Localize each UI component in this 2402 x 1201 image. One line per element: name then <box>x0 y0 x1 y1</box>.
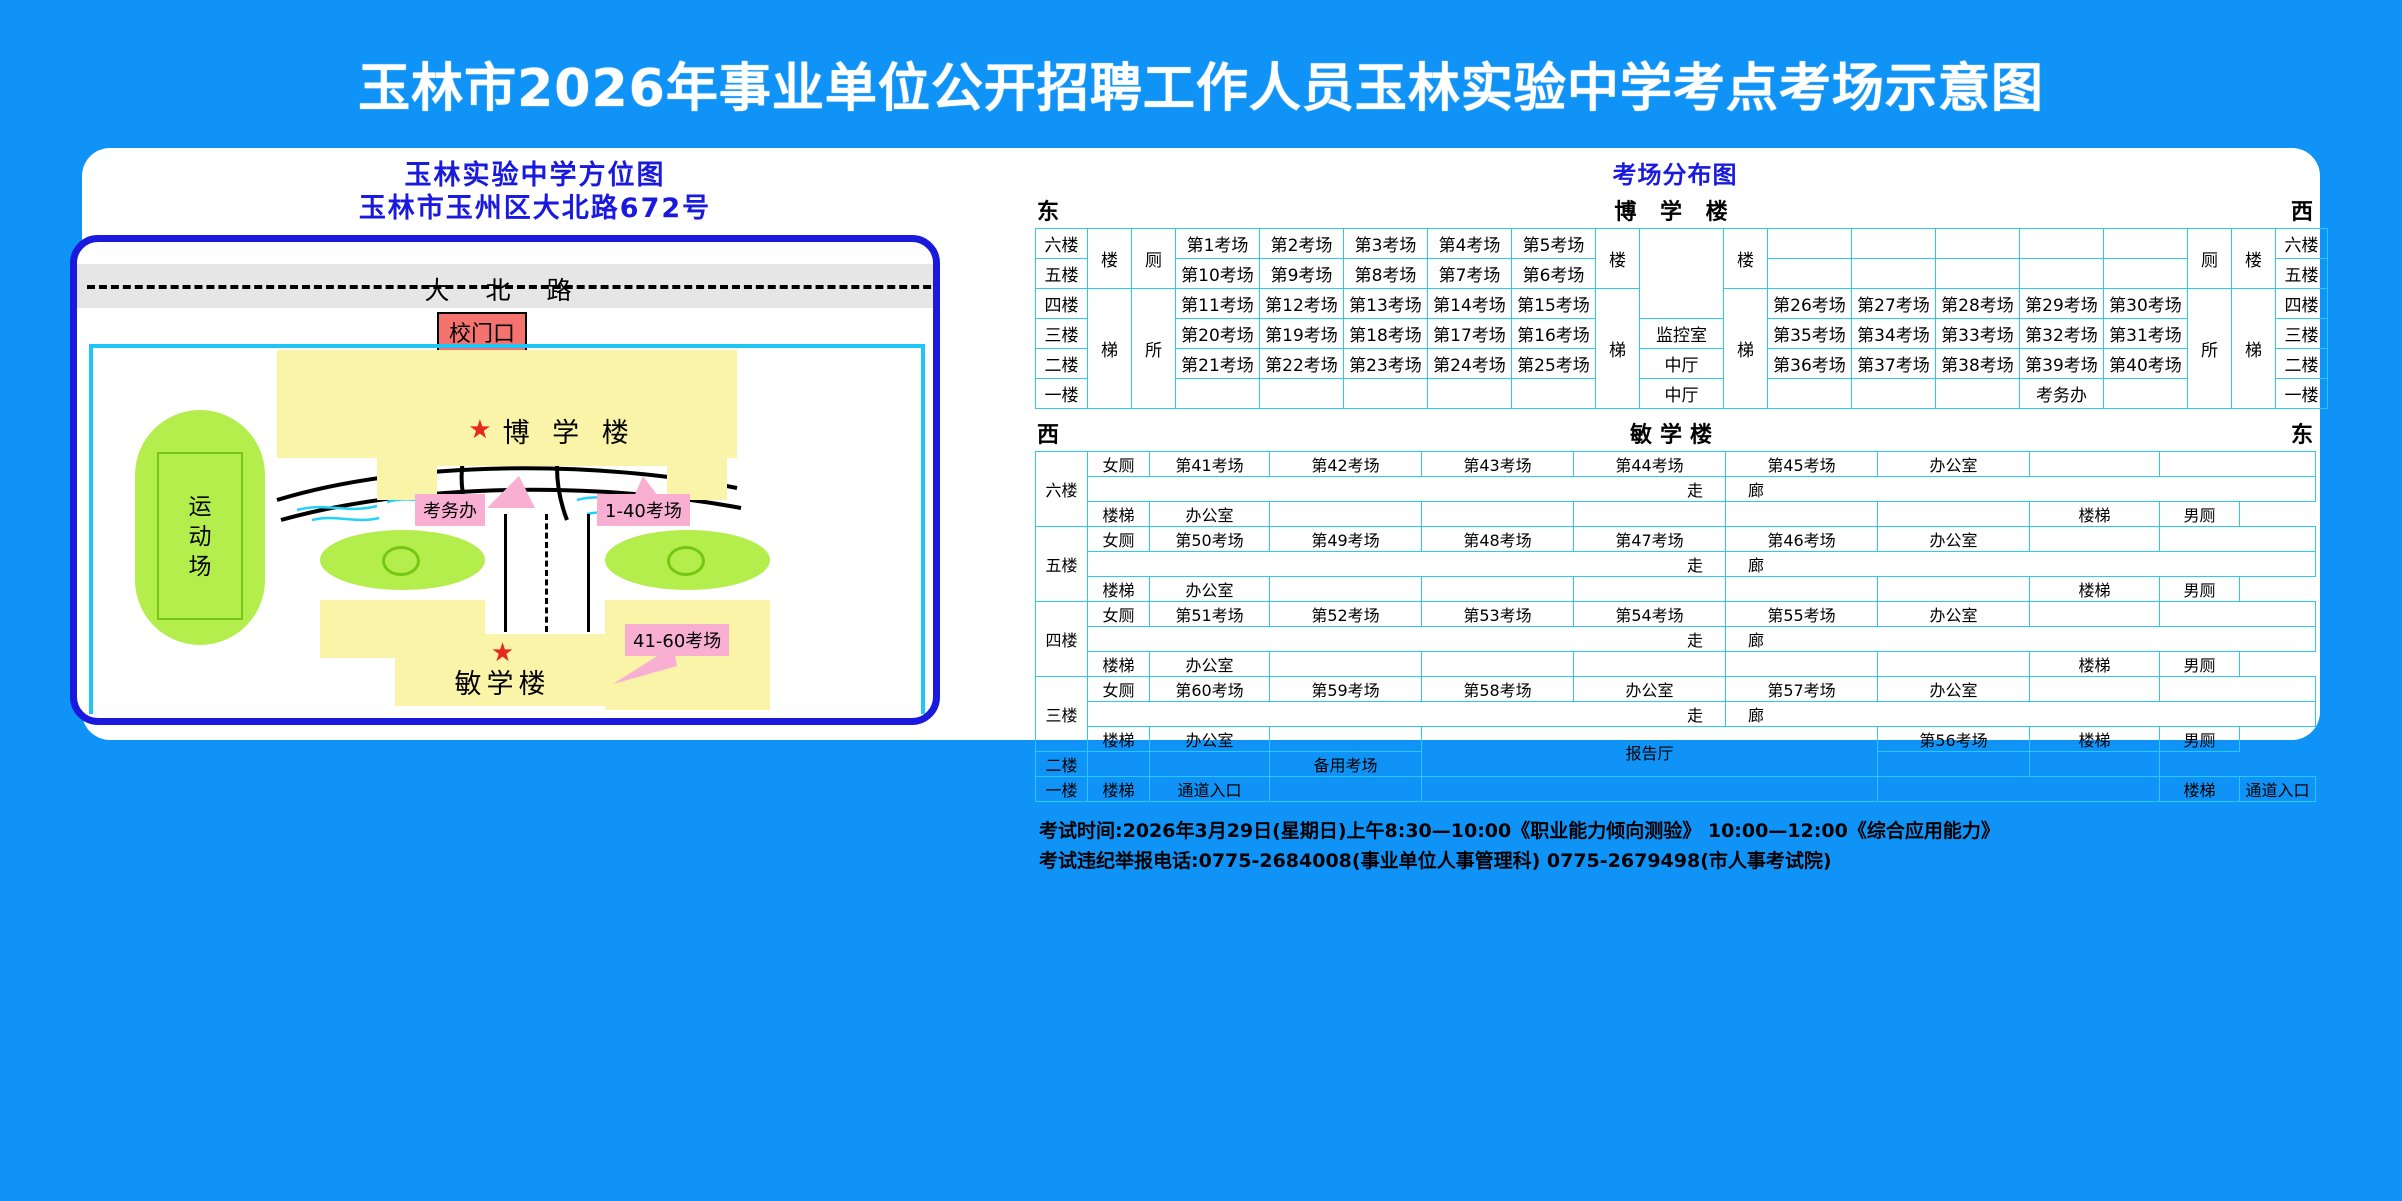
minxue-f2-c6 <box>2030 752 2160 777</box>
minxue-f2-c1 <box>1150 752 1270 777</box>
playground-track: 运 动 场 <box>135 410 265 645</box>
boxue-floor-left-3: 三楼 <box>1036 319 1088 349</box>
minxue-f5-stair-right: 楼梯 <box>2030 577 2160 602</box>
boxue-room-r-1-3 <box>2020 259 2104 289</box>
exam-room-distribution-block: 考场分布图 东 博 学 楼 西 六楼 楼 厕 第1考场 第2考场 第3考场 第4 <box>1035 155 2315 876</box>
distribution-heading: 考场分布图 <box>1035 155 2315 190</box>
playground-label: 运 动 场 <box>135 492 265 582</box>
boxue-text: 博 学 楼 <box>503 411 636 450</box>
minxue-f6-stair-left: 楼梯 <box>1088 502 1150 527</box>
minxue-f4-room-0: 第51考场 <box>1150 602 1270 627</box>
boxue-mid-blank-top <box>1640 229 1724 319</box>
boxue-room-l-0-1: 第2考场 <box>1260 229 1344 259</box>
minxue-f6-office-2: 办公室 <box>1150 502 1270 527</box>
boxue-room-r-0-0 <box>1768 229 1852 259</box>
minxue-f6-room-4: 第45考场 <box>1726 452 1878 477</box>
boxue-room-r-5-3: 考务办 <box>2020 379 2104 409</box>
minxue-f6-mens-toilet: 男厕 <box>2160 502 2240 527</box>
table-row: 三楼 第20考场 第19考场 第18考场 第17考场 第16考场 监控室 第35… <box>1036 319 2328 349</box>
boxue-room-r-5-2 <box>1936 379 2020 409</box>
boxue-floor-left-5: 一楼 <box>1036 379 1088 409</box>
boxue-room-r-0-4 <box>2104 229 2188 259</box>
minxue-f6-blank-2 <box>2160 452 2316 477</box>
boxue-stair-midright-top: 楼 <box>1724 229 1768 289</box>
table-row: 走 廊 <box>1036 627 2316 652</box>
boxue-room-l-3-2: 第18考场 <box>1344 319 1428 349</box>
minxue-f3-office: 办公室 <box>1878 677 2030 702</box>
table-row: 一楼 楼梯 通道入口 楼梯 通道入口 <box>1036 777 2316 802</box>
table-row: 四楼 女厕 第51考场 第52考场 第53考场 第54考场 第55考场 办公室 <box>1036 602 2316 627</box>
minxue-f5-blank-1 <box>2030 527 2160 552</box>
table-row: 二楼 第21考场 第22考场 第23考场 第24考场 第25考场 中厅 第36考… <box>1036 349 2328 379</box>
minxue-f6-b4 <box>1574 502 1726 527</box>
minxue-f1-entrance-left: 通道入口 <box>1150 777 1270 802</box>
boxue-room-l-5-4 <box>1512 379 1596 409</box>
minxue-f5-stair-left: 楼梯 <box>1088 577 1150 602</box>
minxue-dir-east: 东 <box>2291 417 2313 449</box>
star-icon: ★ <box>468 415 498 445</box>
boxue-room-l-3-0: 第20考场 <box>1176 319 1260 349</box>
boxue-room-r-2-4: 第30考场 <box>2104 289 2188 319</box>
minxue-f5-b3 <box>1422 577 1574 602</box>
boxue-room-r-0-1 <box>1852 229 1936 259</box>
boxue-floor-left-2: 四楼 <box>1036 289 1088 319</box>
minxue-floor-2: 二楼 <box>1036 752 1088 777</box>
boxue-room-l-3-1: 第19考场 <box>1260 319 1344 349</box>
boxue-floor-right-3: 三楼 <box>2276 319 2328 349</box>
boxue-room-r-4-1: 第37考场 <box>1852 349 1936 379</box>
boxue-dir-west: 西 <box>2291 194 2313 226</box>
minxue-f4-room-3: 第54考场 <box>1574 602 1726 627</box>
boxue-room-l-1-2: 第8考场 <box>1344 259 1428 289</box>
map-heading-line1: 玉林实验中学方位图 <box>100 159 970 192</box>
minxue-f6-stair-right: 楼梯 <box>2030 502 2160 527</box>
boxue-room-r-2-1: 第27考场 <box>1852 289 1936 319</box>
minxue-f3-room-1: 第59考场 <box>1270 677 1422 702</box>
minxue-f4-room-2: 第53考场 <box>1422 602 1574 627</box>
boxue-room-r-3-2: 第33考场 <box>1936 319 2020 349</box>
tag-rooms-1-40: 1-40考场 <box>597 494 690 526</box>
table-row: 六楼 楼 厕 第1考场 第2考场 第3考场 第4考场 第5考场 楼 楼 厕 楼 … <box>1036 229 2328 259</box>
minxue-f4-corridor-lang: 廊 <box>1726 627 2316 652</box>
minxue-f1-c4 <box>1878 777 2160 802</box>
boxue-room-l-1-1: 第9考场 <box>1260 259 1344 289</box>
boxue-room-r-5-1 <box>1852 379 1936 409</box>
boxue-floor-right-2: 四楼 <box>2276 289 2328 319</box>
table-row: 走 廊 <box>1036 477 2316 502</box>
boxue-room-l-4-4: 第25考场 <box>1512 349 1596 379</box>
minxue-f3-mens-toilet: 男厕 <box>2160 727 2240 752</box>
tag-rooms-41-60: 41-60考场 <box>625 624 729 656</box>
minxue-f4-room-4: 第55考场 <box>1726 602 1878 627</box>
minxue-f5-b6 <box>1878 577 2030 602</box>
boxue-dir-east: 东 <box>1037 194 1059 226</box>
building-boxue: ★博 学 楼 <box>377 394 727 466</box>
boxue-table: 六楼 楼 厕 第1考场 第2考场 第3考场 第4考场 第5考场 楼 楼 厕 楼 … <box>1035 228 2328 409</box>
road-band: 大 北 路 <box>77 264 933 308</box>
boxue-room-l-0-4: 第5考场 <box>1512 229 1596 259</box>
minxue-f4-b2 <box>1270 652 1422 677</box>
boxue-room-r-5-4 <box>2104 379 2188 409</box>
boxue-room-l-3-4: 第16考场 <box>1512 319 1596 349</box>
boxue-toilet-right-top: 厕 <box>2188 229 2232 289</box>
boxue-floor-left-4: 二楼 <box>1036 349 1088 379</box>
minxue-f3-room-2: 第58考场 <box>1422 677 1574 702</box>
table-row: 走 廊 <box>1036 702 2316 727</box>
boxue-mid-monitor-room: 监控室 <box>1640 319 1724 349</box>
boxue-stair-right-top: 楼 <box>2232 229 2276 289</box>
boxue-room-l-0-3: 第4考场 <box>1428 229 1512 259</box>
boxue-room-r-4-2: 第38考场 <box>1936 349 2020 379</box>
boxue-room-r-4-4: 第40考场 <box>2104 349 2188 379</box>
road-label: 大 北 路 <box>77 271 933 307</box>
minxue-f5-corridor-zou: 走 <box>1088 552 1726 577</box>
boxue-room-r-0-2 <box>1936 229 2020 259</box>
boxue-room-l-5-2 <box>1344 379 1428 409</box>
map-heading: 玉林实验中学方位图 玉林市玉州区大北路672号 <box>100 155 970 225</box>
minxue-f1-stair-left: 楼梯 <box>1088 777 1150 802</box>
minxue-f3-room-4: 第57考场 <box>1726 677 1878 702</box>
boxue-room-l-2-1: 第12考场 <box>1260 289 1344 319</box>
boxue-room-r-1-0 <box>1768 259 1852 289</box>
table-row: 楼梯 办公室 楼梯 男厕 <box>1036 652 2316 677</box>
green-oval-right-ring <box>667 546 705 576</box>
boxue-mid-hall-2f: 中厅 <box>1640 349 1724 379</box>
boxue-direction-row: 东 博 学 楼 西 <box>1035 194 2315 228</box>
minxue-f3-b2 <box>1270 727 1422 752</box>
boxue-room-l-5-0 <box>1176 379 1260 409</box>
minxue-f6-womens-toilet: 女厕 <box>1088 452 1150 477</box>
building-boxue-label: ★博 学 楼 <box>377 394 727 466</box>
boxue-room-r-0-3 <box>2020 229 2104 259</box>
minxue-f4-womens-toilet: 女厕 <box>1088 602 1150 627</box>
minxue-f3-stair-left: 楼梯 <box>1088 727 1150 752</box>
boxue-stair-midright-bottom: 梯 <box>1724 289 1768 409</box>
boxue-room-r-1-1 <box>1852 259 1936 289</box>
minxue-f6-b6 <box>1878 502 2030 527</box>
minxue-f4-b4 <box>1574 652 1726 677</box>
minxue-f5-corridor-lang: 廊 <box>1726 552 2316 577</box>
boxue-room-r-1-2 <box>1936 259 2020 289</box>
boxue-floor-right-5: 一楼 <box>2276 379 2328 409</box>
minxue-f5-office: 办公室 <box>1878 527 2030 552</box>
boxue-stair-midleft-top: 楼 <box>1596 229 1640 289</box>
minxue-f3-stair-right: 楼梯 <box>2030 727 2160 752</box>
boxue-room-r-4-3: 第39考场 <box>2020 349 2104 379</box>
boxue-room-l-1-0: 第10考场 <box>1176 259 1260 289</box>
minxue-table: 六楼 女厕 第41考场 第42考场 第43考场 第44考场 第45考场 办公室 … <box>1035 451 2316 802</box>
minxue-building-name: 敏学楼 <box>1630 417 1720 449</box>
minxue-f4-stair-left: 楼梯 <box>1088 652 1150 677</box>
boxue-room-l-0-0: 第1考场 <box>1176 229 1260 259</box>
minxue-f5-room-3: 第47考场 <box>1574 527 1726 552</box>
table-row: 走 廊 <box>1036 552 2316 577</box>
minxue-floor-5: 五楼 <box>1036 527 1088 602</box>
boxue-building-name: 博 学 楼 <box>1614 194 1735 226</box>
minxue-f6-room-3: 第44考场 <box>1574 452 1726 477</box>
minxue-f6-corridor-lang: 廊 <box>1726 477 2316 502</box>
campus-road-right <box>587 514 590 632</box>
map-heading-line2: 玉林市玉州区大北路672号 <box>100 192 970 225</box>
minxue-f4-b3 <box>1422 652 1574 677</box>
minxue-f1-c3 <box>1422 777 1878 802</box>
minxue-f5-room-0: 第50考场 <box>1150 527 1270 552</box>
table-row: 一楼 中厅 考务办 一楼 <box>1036 379 2328 409</box>
boxue-room-l-3-3: 第17考场 <box>1428 319 1512 349</box>
boxue-toilet-left-top: 厕 <box>1132 229 1176 289</box>
boxue-toilet-left-bottom: 所 <box>1132 289 1176 409</box>
boxue-stair-left-bottom: 梯 <box>1088 289 1132 409</box>
boxue-room-r-3-3: 第32考场 <box>2020 319 2104 349</box>
boxue-room-r-3-1: 第34考场 <box>1852 319 1936 349</box>
exam-time-note: 考试时间:2026年3月29日(星期日)上午8:30—10:00《职业能力倾向测… <box>1035 816 2315 846</box>
minxue-f4-office-2: 办公室 <box>1150 652 1270 677</box>
minxue-f6-b2 <box>1270 502 1422 527</box>
minxue-f3-corridor-zou: 走 <box>1088 702 1726 727</box>
minxue-f3-blank-2 <box>2160 677 2316 702</box>
table-row: 楼梯 办公室 楼梯 男厕 <box>1036 502 2316 527</box>
table-row: 楼梯 办公室 楼梯 男厕 <box>1036 577 2316 602</box>
minxue-f5-b5 <box>1726 577 1878 602</box>
minxue-f3-office-mid: 办公室 <box>1574 677 1726 702</box>
minxue-f4-blank-2 <box>2160 602 2316 627</box>
minxue-f3-corridor-lang: 廊 <box>1726 702 2316 727</box>
minxue-f4-corridor-zou: 走 <box>1088 627 1726 652</box>
minxue-f3-room-0: 第60考场 <box>1150 677 1270 702</box>
minxue-f6-room-2: 第43考场 <box>1422 452 1574 477</box>
minxue-f6-room-1: 第42考场 <box>1270 452 1422 477</box>
minxue-f1-entrance-right: 通道入口 <box>2240 777 2316 802</box>
boxue-mid-hall-1f: 中厅 <box>1640 379 1724 409</box>
boxue-room-l-1-3: 第7考场 <box>1428 259 1512 289</box>
minxue-f3-blank-1 <box>2030 677 2160 702</box>
boxue-room-r-4-0: 第36考场 <box>1768 349 1852 379</box>
campus-map-block: 玉林实验中学方位图 玉林市玉州区大北路672号 大 北 路 校门口 <box>100 155 970 730</box>
table-row: 五楼 女厕 第50考场 第49考场 第48考场 第47考场 第46考场 办公室 <box>1036 527 2316 552</box>
table-row: 六楼 女厕 第41考场 第42考场 第43考场 第44考场 第45考场 办公室 <box>1036 452 2316 477</box>
map-frame: 大 北 路 校门口 ★博 学 楼 <box>70 235 940 725</box>
minxue-f3-room-56: 第56考场 <box>1878 727 2030 752</box>
minxue-f5-mens-toilet: 男厕 <box>2160 577 2240 602</box>
minxue-f4-mens-toilet: 男厕 <box>2160 652 2240 677</box>
playground-label-ch1: 运 <box>135 492 265 522</box>
boxue-room-l-4-3: 第24考场 <box>1428 349 1512 379</box>
boxue-room-r-2-0: 第26考场 <box>1768 289 1852 319</box>
boxue-room-r-5-0 <box>1768 379 1852 409</box>
boxue-room-l-5-3 <box>1428 379 1512 409</box>
minxue-f2-spare-exam-room: 备用考场 <box>1270 752 1422 777</box>
boxue-room-r-3-0: 第35考场 <box>1768 319 1852 349</box>
minxue-f5-office-2: 办公室 <box>1150 577 1270 602</box>
boxue-room-r-1-4 <box>2104 259 2188 289</box>
playground-label-ch3: 场 <box>135 552 265 582</box>
minxue-f4-office: 办公室 <box>1878 602 2030 627</box>
minxue-f6-room-0: 第41考场 <box>1150 452 1270 477</box>
minxue-f6-blank-1 <box>2030 452 2160 477</box>
minxue-dir-west: 西 <box>1037 417 1059 449</box>
minxue-f5-room-2: 第48考场 <box>1422 527 1574 552</box>
boxue-room-l-2-2: 第13考场 <box>1344 289 1428 319</box>
boxue-stair-left-top: 楼 <box>1088 229 1132 289</box>
boxue-room-r-3-4: 第31考场 <box>2104 319 2188 349</box>
minxue-f4-room-1: 第52考场 <box>1270 602 1422 627</box>
boxue-room-l-4-2: 第23考场 <box>1344 349 1428 379</box>
minxue-f4-stair-right: 楼梯 <box>2030 652 2160 677</box>
minxue-f6-b5 <box>1726 502 1878 527</box>
playground-label-ch2: 动 <box>135 522 265 552</box>
table-row: 三楼 女厕 第60考场 第59考场 第58考场 办公室 第57考场 办公室 <box>1036 677 2316 702</box>
minxue-f4-b6 <box>1878 652 2030 677</box>
tag-kaowuban: 考务办 <box>415 494 485 526</box>
minxue-f6-corridor-zou: 走 <box>1088 477 1726 502</box>
minxue-f4-blank-1 <box>2030 602 2160 627</box>
boxue-room-l-4-0: 第21考场 <box>1176 349 1260 379</box>
minxue-f5-b2 <box>1270 577 1422 602</box>
minxue-f1-stair-right: 楼梯 <box>2160 777 2240 802</box>
minxue-f5-b4 <box>1574 577 1726 602</box>
minxue-f6-b3 <box>1422 502 1574 527</box>
boxue-room-l-4-1: 第22考场 <box>1260 349 1344 379</box>
boxue-stair-midleft-bottom: 梯 <box>1596 289 1640 409</box>
boxue-floor-right-4: 二楼 <box>2276 349 2328 379</box>
minxue-floor-6: 六楼 <box>1036 452 1088 527</box>
minxue-f6-office: 办公室 <box>1878 452 2030 477</box>
campus-road-center-dashed <box>545 514 548 632</box>
boxue-floor-right-0: 六楼 <box>2276 229 2328 259</box>
page-title: 玉林市2026年事业单位公开招聘工作人员玉林实验中学考点考场示意图 <box>0 58 2402 120</box>
boxue-room-r-2-3: 第29考场 <box>2020 289 2104 319</box>
minxue-f2-c0 <box>1088 752 1150 777</box>
minxue-f3-office-2: 办公室 <box>1150 727 1270 752</box>
minxue-f3-womens-toilet: 女厕 <box>1088 677 1150 702</box>
boxue-room-l-0-2: 第3考场 <box>1344 229 1428 259</box>
minxue-f1-c2 <box>1270 777 1422 802</box>
minxue-f5-room-1: 第49考场 <box>1270 527 1422 552</box>
minxue-f5-womens-toilet: 女厕 <box>1088 527 1150 552</box>
boxue-floor-right-1: 五楼 <box>2276 259 2328 289</box>
table-row: 楼梯 办公室 报告厅 第56考场 楼梯 男厕 <box>1036 727 2316 752</box>
minxue-floor-1: 一楼 <box>1036 777 1088 802</box>
boxue-stair-right-bottom: 梯 <box>2232 289 2276 409</box>
boxue-toilet-right-bottom: 所 <box>2188 289 2232 409</box>
minxue-f2-c5 <box>1878 752 2030 777</box>
minxue-floor-3: 三楼 <box>1036 677 1088 752</box>
minxue-direction-row: 西 敏学楼 东 <box>1035 417 2315 451</box>
minxue-f5-blank-2 <box>2160 527 2316 552</box>
minxue-f4-b5 <box>1726 652 1878 677</box>
minxue-auditorium: 报告厅 <box>1422 727 1878 777</box>
exam-notes: 考试时间:2026年3月29日(星期日)上午8:30—10:00《职业能力倾向测… <box>1035 816 2315 876</box>
boxue-room-l-2-0: 第11考场 <box>1176 289 1260 319</box>
exam-report-phone-note: 考试违纪举报电话:0775-2684008(事业单位人事管理科) 0775-26… <box>1035 846 2315 876</box>
boxue-room-l-2-4: 第15考场 <box>1512 289 1596 319</box>
boxue-floor-left-0: 六楼 <box>1036 229 1088 259</box>
green-oval-left-ring <box>382 546 420 576</box>
minxue-floor-4: 四楼 <box>1036 602 1088 677</box>
boxue-room-r-2-2: 第28考场 <box>1936 289 2020 319</box>
boxue-room-l-5-1 <box>1260 379 1344 409</box>
boxue-room-l-1-4: 第6考场 <box>1512 259 1596 289</box>
minxue-f5-room-4: 第46考场 <box>1726 527 1878 552</box>
boxue-room-l-2-3: 第14考场 <box>1428 289 1512 319</box>
campus-road-left <box>504 514 507 632</box>
boxue-floor-left-1: 五楼 <box>1036 259 1088 289</box>
